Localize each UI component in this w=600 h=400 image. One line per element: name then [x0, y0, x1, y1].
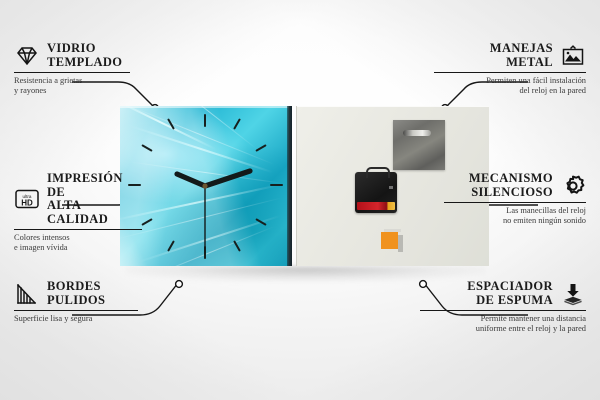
battery: [357, 202, 395, 210]
minute-hand: [205, 171, 250, 186]
feature-title: MECANISMO SILENCIOSO: [469, 172, 553, 199]
infographic-canvas: VIDRIO TEMPLADO Resistencia a grietas y …: [0, 0, 600, 400]
hanger-slot: [403, 130, 431, 136]
feature-divider: [14, 72, 130, 73]
feature-metal-handles: MANEJAS METAL Permiten una fácil instala…: [434, 42, 586, 96]
foam-spacer-pad: [381, 232, 398, 249]
foam-spacer-icon: [560, 282, 586, 306]
gear-icon: [560, 174, 586, 198]
feature-silent-mechanism: MECANISMO SILENCIOSO Las manecillas del …: [444, 172, 586, 226]
clock-mechanism: [355, 172, 397, 213]
feature-description: Permiten una fácil instalación del reloj…: [434, 76, 586, 96]
feature-high-quality-print: ultra HD IMPRESIÓN DE ALTA CALIDAD Color…: [14, 172, 142, 253]
feature-title: ESPACIADOR DE ESPUMA: [467, 280, 553, 307]
feature-divider: [14, 310, 138, 311]
feature-divider: [434, 72, 586, 73]
polished-edges-icon: [14, 282, 40, 306]
product-photo: [120, 106, 488, 274]
feature-title: MANEJAS METAL: [490, 42, 553, 69]
hour-hand: [177, 174, 205, 186]
svg-text:HD: HD: [21, 199, 33, 208]
clock-center-cap: [202, 183, 207, 188]
feature-description: Superficie lisa y segura: [14, 314, 138, 324]
feature-divider: [420, 310, 586, 311]
feature-description: Las manecillas del reloj no emiten ningú…: [444, 206, 586, 226]
feature-polished-edges: BORDES PULIDOS Superficie lisa y segura: [14, 280, 138, 324]
clock-front-face: [120, 106, 292, 266]
mechanism-dial: [389, 186, 393, 189]
mechanism-handle: [366, 167, 390, 178]
feature-foam-spacer: ESPACIADOR DE ESPUMA Permite mantener un…: [420, 280, 586, 334]
feature-tempered-glass: VIDRIO TEMPLADO Resistencia a grietas y …: [14, 42, 130, 96]
feature-divider: [14, 229, 142, 230]
feature-title: VIDRIO TEMPLADO: [47, 42, 122, 69]
feature-description: Colores intensos e imagen vívida: [14, 233, 142, 253]
ultra-hd-icon: ultra HD: [14, 187, 40, 211]
feature-description: Permite mantener una distancia uniforme …: [420, 314, 586, 334]
clock-hands: [120, 106, 292, 266]
metal-hanger-plate: [393, 120, 445, 170]
glass-edge: [287, 106, 292, 266]
feature-title: IMPRESIÓN DE ALTA CALIDAD: [47, 172, 142, 226]
picture-frame-icon: [560, 44, 586, 68]
diamond-icon: [14, 44, 40, 68]
feature-divider: [444, 202, 586, 203]
feature-description: Resistencia a grietas y rayones: [14, 76, 130, 96]
feature-title: BORDES PULIDOS: [47, 280, 105, 307]
